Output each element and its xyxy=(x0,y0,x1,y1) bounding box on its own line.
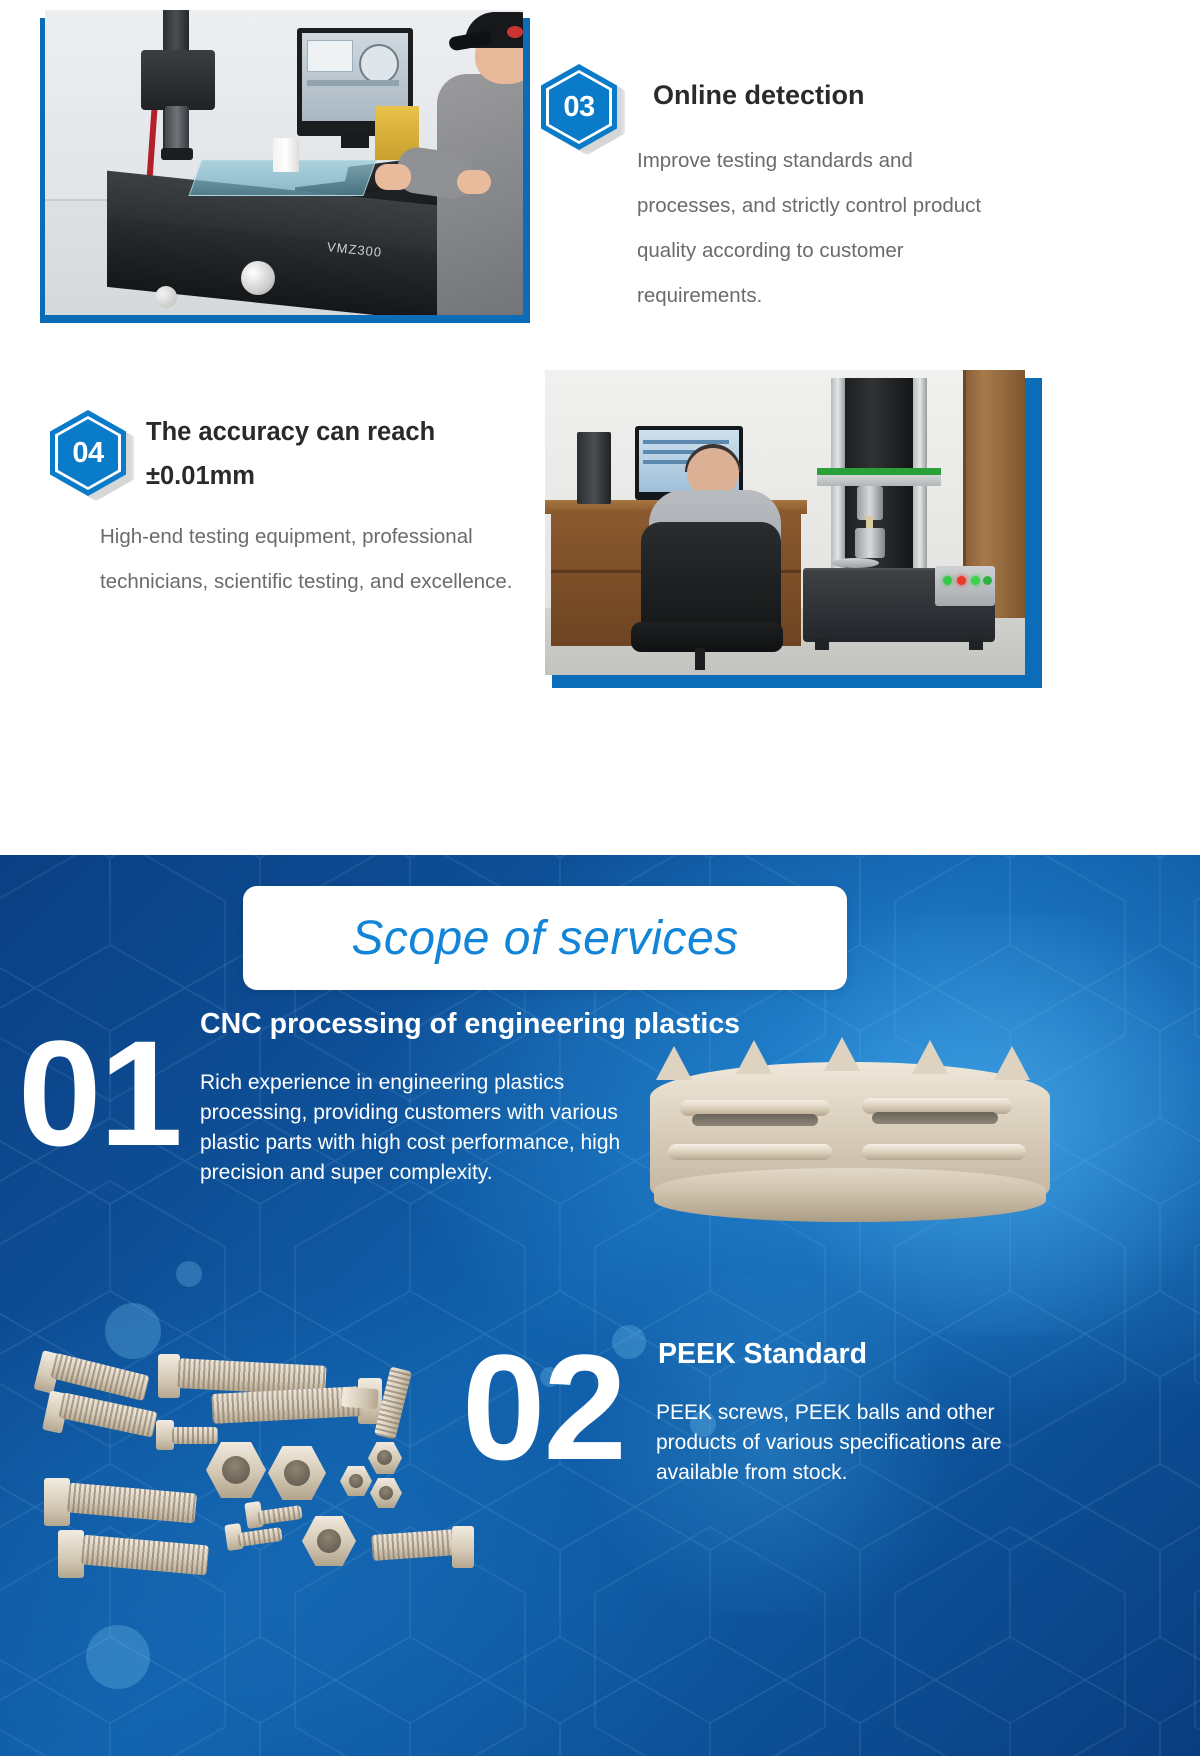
badge-number: 04 xyxy=(50,410,126,496)
features-section: VMZ300 03 Online detection xyxy=(0,0,1200,855)
feature-title: Online detection xyxy=(653,80,865,111)
photo-tensile-testing xyxy=(545,370,1025,675)
scope-item-number-01: 01 xyxy=(18,1018,181,1168)
scope-item-body-01: Rich experience in engineering plastics … xyxy=(200,1068,632,1188)
scope-item-title-02: PEEK Standard xyxy=(658,1338,1098,1371)
feature-body: High-end testing equipment, professional… xyxy=(100,514,540,604)
hexagon-badge-icon: 04 xyxy=(50,410,126,496)
marketing-page: VMZ300 03 Online detection xyxy=(0,0,1200,1756)
badge-number: 03 xyxy=(541,64,617,150)
image-peek-chain-part xyxy=(640,1040,1060,1265)
scope-title-card: Scope of services xyxy=(243,886,847,990)
photo-metrology: VMZ300 xyxy=(45,10,523,315)
scope-item-number-02: 02 xyxy=(462,1332,625,1482)
feature-body: Improve testing standards and processes,… xyxy=(637,138,1017,318)
scope-item-body-02: PEEK screws, PEEK balls and other produc… xyxy=(656,1398,1064,1488)
image-peek-bolts-nuts xyxy=(40,1280,510,1730)
hexagon-badge-icon: 03 xyxy=(541,64,617,150)
scope-heading: Scope of services xyxy=(351,911,738,966)
feature-title: The accuracy can reach ±0.01mm xyxy=(146,410,546,498)
